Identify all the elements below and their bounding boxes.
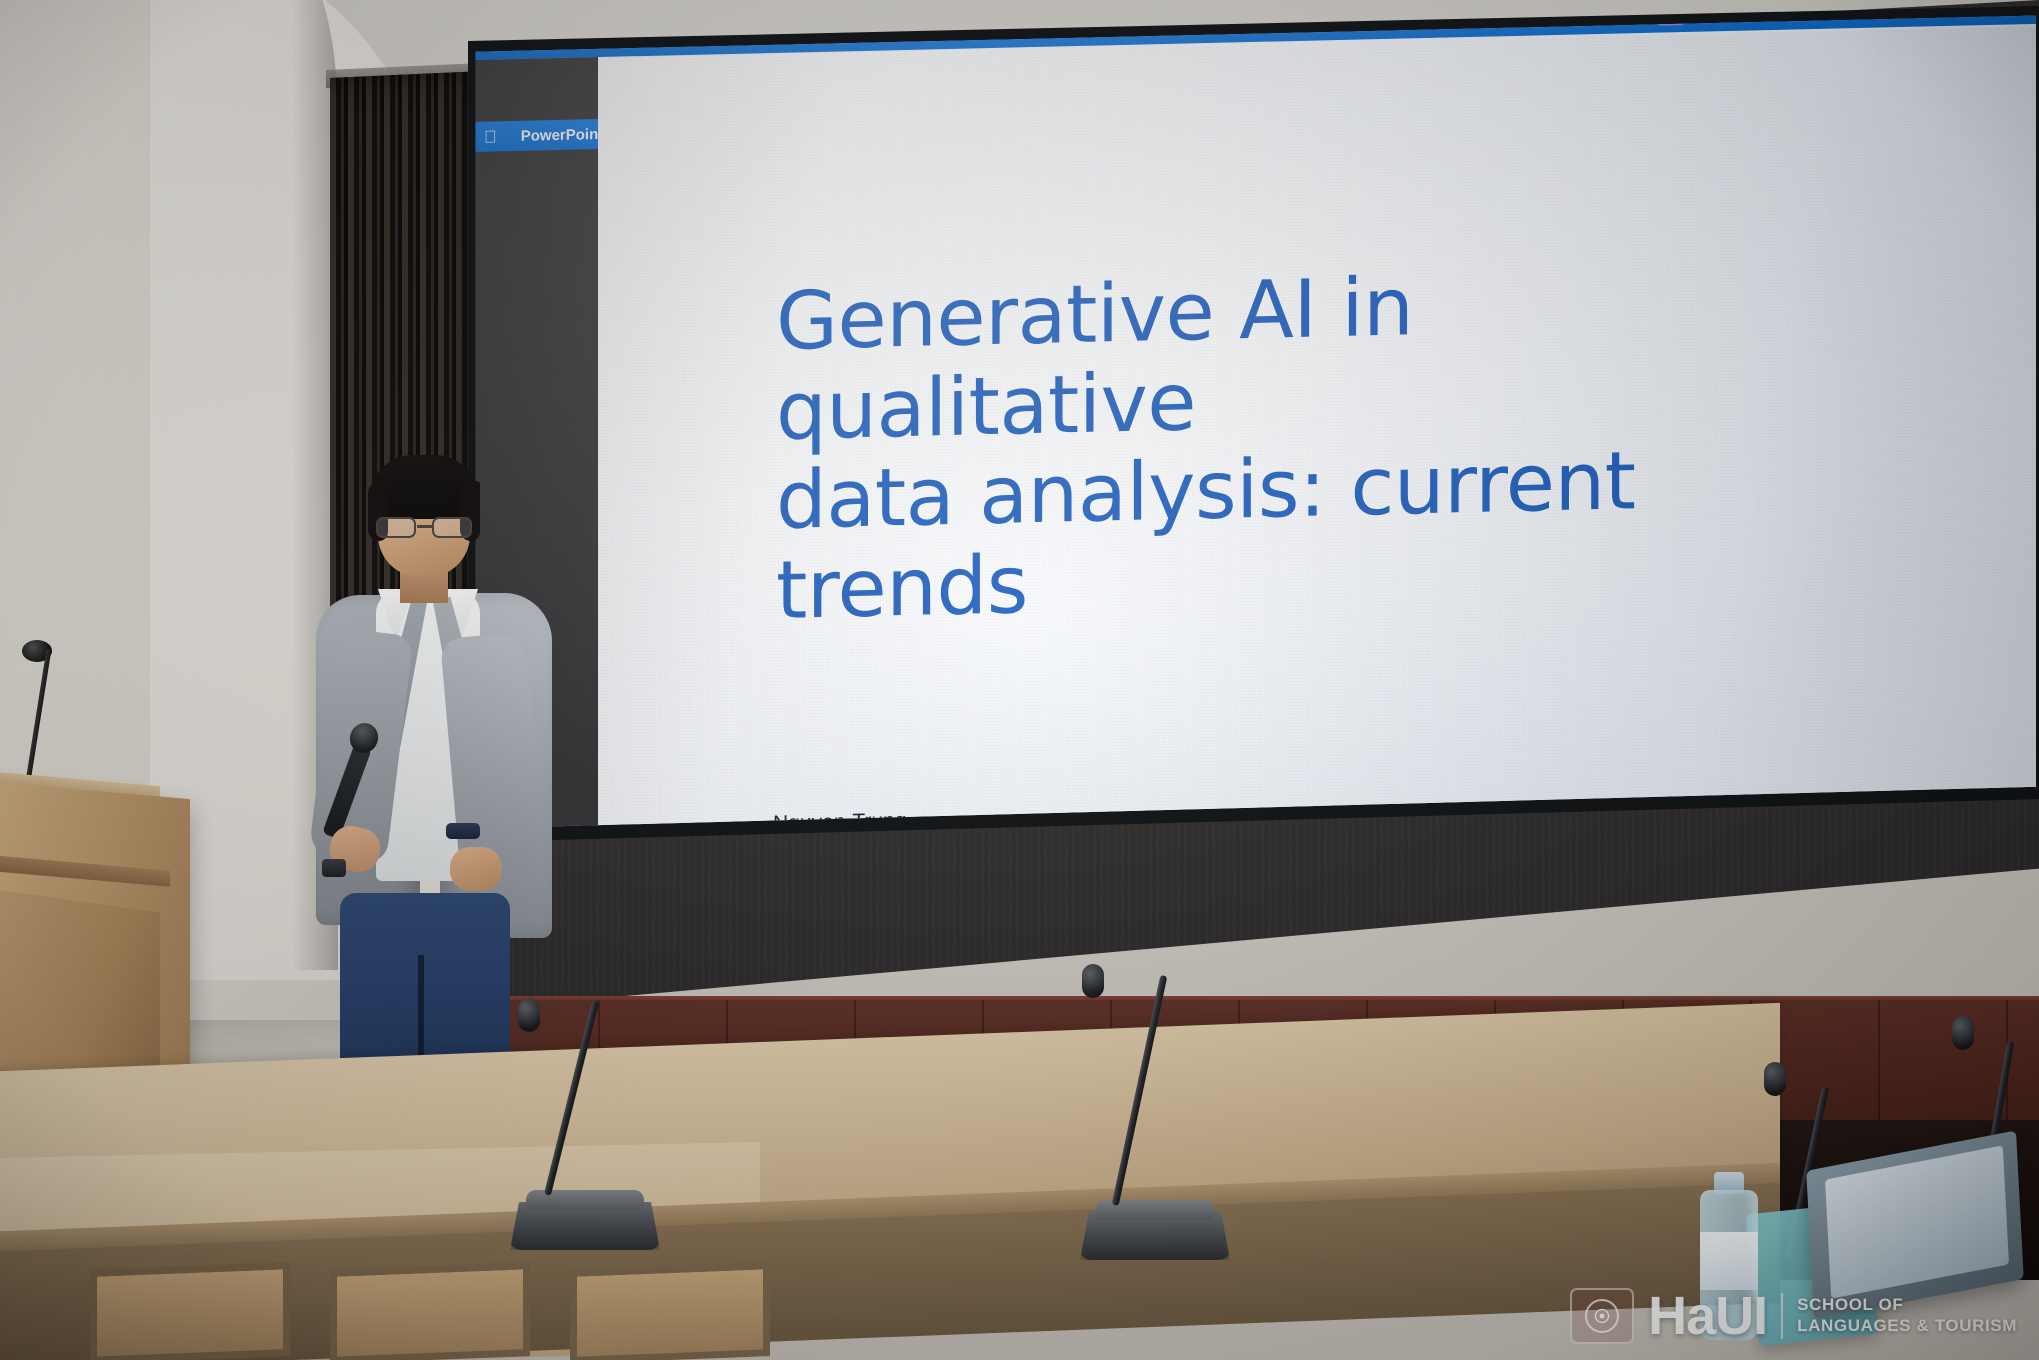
slide-title: Generative AI in qualitative data analys… — [776, 253, 1836, 636]
slide-title-line-2: data analysis: current trends — [776, 432, 1836, 636]
table-microphone — [1000, 960, 1240, 1260]
watermark-subtitle-line-2: LANGUAGES & TOURISM — [1797, 1316, 2017, 1337]
haui-seal-badge-icon — [1570, 1288, 1634, 1344]
eyeglass-lens-right — [432, 517, 472, 538]
photo-scene: AU Tue 6 Ja — [0, 0, 2039, 1360]
apple-logo-icon[interactable]:  — [484, 128, 497, 145]
microphone-gooseneck — [544, 1000, 599, 1196]
right-hand — [450, 847, 502, 891]
haui-seal-ring — [1585, 1299, 1619, 1333]
eyeglass-lens-left — [376, 517, 416, 538]
watermark-subtitle-line-1: SCHOOL OF — [1797, 1295, 2017, 1316]
microphone-head-icon — [1952, 1016, 1974, 1050]
venue-watermark: HaUI SCHOOL OF LANGUAGES & TOURISM — [1570, 1288, 2017, 1344]
haui-brand-text: HaUI — [1648, 1289, 1767, 1343]
table-front-panel — [90, 1262, 290, 1360]
watermark-divider — [1781, 1293, 1783, 1339]
table-front-panel — [330, 1262, 530, 1360]
presenter — [300, 455, 570, 1075]
table-front-panel — [570, 1262, 770, 1360]
table-microphone — [440, 990, 670, 1250]
microphone-head-icon — [518, 998, 540, 1032]
eyeglasses-icon — [374, 517, 474, 539]
microphone-head-icon — [1082, 964, 1104, 998]
menu-item-powerpoint[interactable]: PowerPoint — [521, 125, 604, 144]
water-bottle-label — [1700, 1232, 1758, 1290]
microphone-base-top — [526, 1190, 644, 1210]
watermark-subtitle: SCHOOL OF LANGUAGES & TOURISM — [1797, 1295, 2017, 1336]
microphone-gooseneck — [1112, 975, 1168, 1206]
wristwatch — [446, 823, 480, 839]
slide-title-line-1: Generative AI in qualitative — [776, 253, 1836, 457]
microphone-head-icon — [1764, 1062, 1786, 1096]
eyeglass-bridge — [417, 525, 433, 528]
presentation-clicker — [322, 859, 346, 877]
